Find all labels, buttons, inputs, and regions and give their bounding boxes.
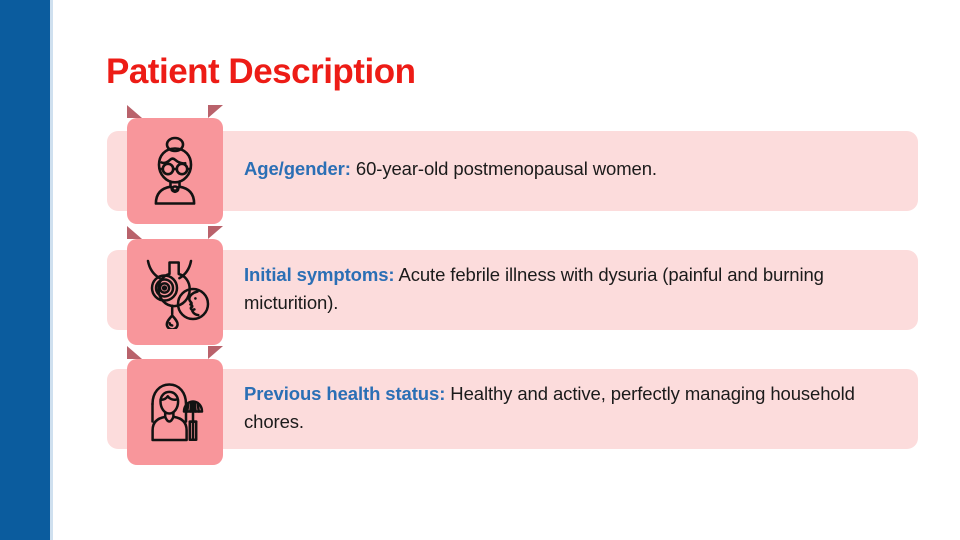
slide-canvas: Patient Description <box>0 0 960 540</box>
row-label: Age/gender: <box>244 158 351 179</box>
ribbon-fold-left-icon <box>127 226 142 239</box>
painful-urination-bladder-icon <box>127 239 223 345</box>
list-item: Age/gender: 60-year-old postmenopausal w… <box>107 131 918 211</box>
ribbon-fold-right-icon <box>208 346 223 359</box>
woman-with-broom-icon <box>127 359 223 465</box>
row-text: Age/gender: 60-year-old postmenopausal w… <box>244 155 898 183</box>
elderly-woman-icon <box>127 118 223 224</box>
list-item: Previous health status: Healthy and acti… <box>107 369 918 449</box>
row-label: Previous health status: <box>244 383 445 404</box>
row-icon-badge <box>127 359 223 465</box>
ribbon-fold-right-icon <box>208 226 223 239</box>
ribbon-fold-right-icon <box>208 105 223 118</box>
row-icon-badge <box>127 239 223 345</box>
row-icon-badge <box>127 118 223 224</box>
row-label: Initial symptoms: <box>244 264 394 285</box>
row-text: Previous health status: Healthy and acti… <box>244 380 898 436</box>
patient-description-list: Age/gender: 60-year-old postmenopausal w… <box>0 0 960 540</box>
list-item: Initial symptoms: Acute febrile illness … <box>107 250 918 330</box>
row-text: Initial symptoms: Acute febrile illness … <box>244 261 898 317</box>
ribbon-fold-left-icon <box>127 105 142 118</box>
ribbon-fold-left-icon <box>127 346 142 359</box>
row-body: 60-year-old postmenopausal women. <box>351 158 657 179</box>
